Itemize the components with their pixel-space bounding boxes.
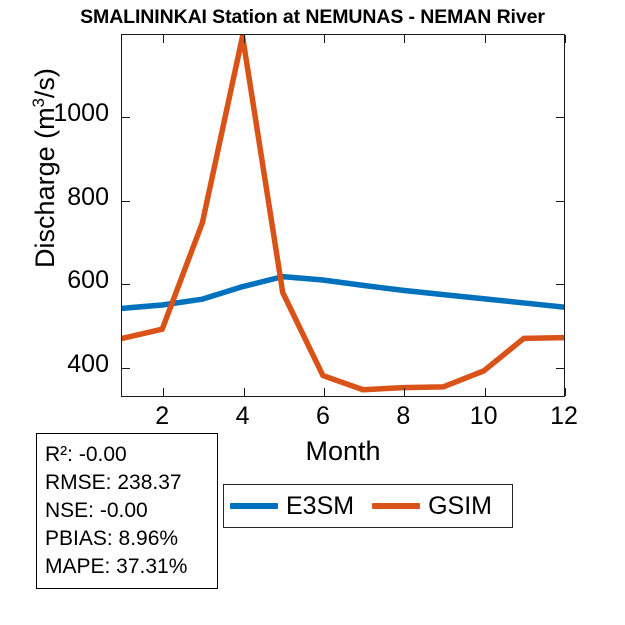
x-tick-label-10: 10	[470, 402, 498, 431]
legend-item-gsim[interactable]: GSIM	[372, 485, 492, 527]
y-tick-right-1000	[556, 117, 564, 118]
chart-figure: SMALININKAI Station at NEMUNAS - NEMAN R…	[0, 0, 625, 625]
y-tick-right-800	[556, 201, 564, 202]
x-tick-label-2: 2	[155, 402, 169, 431]
legend-label-gsim: GSIM	[428, 494, 492, 519]
stat-r2: R²: -0.00	[45, 441, 217, 469]
x-tick-10	[485, 388, 486, 396]
legend-item-e3sm[interactable]: E3SM	[230, 485, 354, 527]
y-axis-label-exponent: 3	[29, 98, 48, 107]
x-tick-label-6: 6	[316, 402, 330, 431]
y-tick-600	[122, 284, 130, 285]
y-axis-label-prefix: Discharge (m	[30, 107, 60, 268]
x-tick-2	[163, 388, 164, 396]
line-series-e3sm	[122, 277, 564, 309]
statistics-box: R²: -0.00 RMSE: 238.37 NSE: -0.00 PBIAS:…	[36, 433, 218, 589]
series-lines	[122, 35, 564, 396]
line-series-gsim	[122, 36, 564, 389]
x-tick-12	[565, 388, 566, 396]
x-tick-top-6	[324, 35, 325, 43]
y-tick-800	[122, 201, 130, 202]
y-tick-400	[122, 368, 130, 369]
stat-pbias: PBIAS: 8.96%	[45, 525, 217, 553]
stat-mape: MAPE: 37.31%	[45, 553, 217, 581]
legend-swatch-gsim	[372, 503, 420, 509]
x-tick-top-10	[485, 35, 486, 43]
chart-legend: E3SM GSIM	[223, 484, 513, 528]
stat-r2-text: R²: -0.00	[45, 443, 127, 466]
y-axis-label: Discharge (m3/s)	[29, 3, 61, 333]
legend-label-e3sm: E3SM	[286, 494, 354, 519]
plot-area	[121, 34, 565, 397]
x-tick-label-4: 4	[236, 402, 250, 431]
x-tick-8	[404, 388, 405, 396]
legend-swatch-e3sm	[230, 503, 278, 509]
stat-nse: NSE: -0.00	[45, 497, 217, 525]
y-tick-right-400	[556, 368, 564, 369]
chart-title: SMALININKAI Station at NEMUNAS - NEMAN R…	[0, 6, 625, 29]
y-axis-label-suffix: /s)	[30, 68, 60, 98]
x-tick-4	[244, 388, 245, 396]
y-tick-label-400: 400	[0, 350, 109, 379]
stat-rmse: RMSE: 238.37	[45, 469, 217, 497]
x-tick-top-12	[565, 35, 566, 43]
x-tick-top-4	[244, 35, 245, 43]
y-tick-right-600	[556, 284, 564, 285]
y-tick-1000	[122, 117, 130, 118]
x-tick-top-2	[163, 35, 164, 43]
x-tick-top-8	[404, 35, 405, 43]
plot-canvas	[122, 35, 564, 396]
x-tick-label-8: 8	[396, 402, 410, 431]
x-tick-6	[324, 388, 325, 396]
x-tick-label-12: 12	[550, 402, 578, 431]
